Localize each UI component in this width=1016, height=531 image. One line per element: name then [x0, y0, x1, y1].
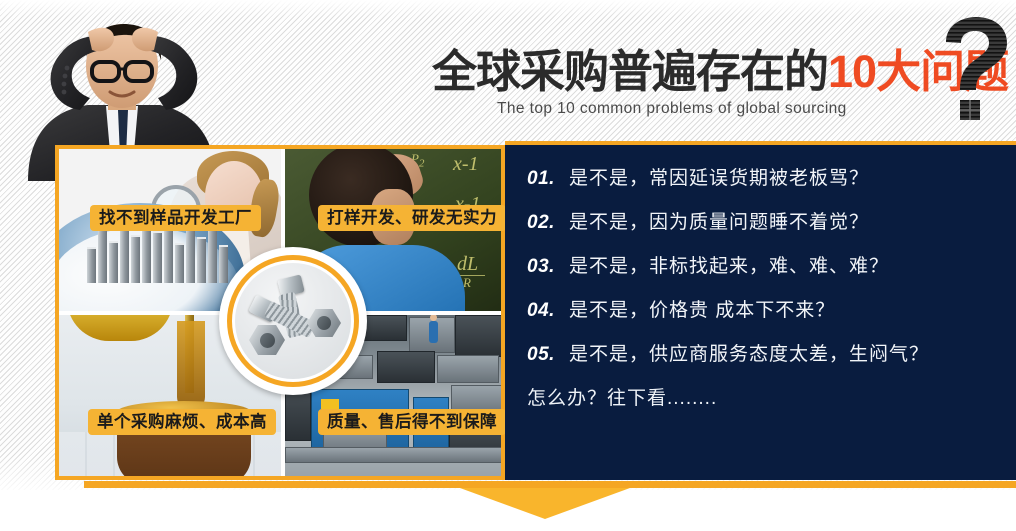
caption-no-quality-warranty: 质量、售后得不到保障	[318, 409, 506, 435]
problem-number: 02.	[527, 212, 569, 234]
problems-list: 01. 是不是，常因延误货期被老板骂？ 02. 是不是，因为质量问题睡不着觉？ …	[527, 163, 1006, 410]
problem-text: 是不是，供应商服务态度太差，生闷气？	[569, 339, 929, 366]
caption-no-sample-factory: 找不到样品开发工厂	[90, 205, 261, 231]
question-mark-icon	[938, 16, 1012, 124]
title-main-text: 全球采购普遍存在的	[432, 46, 828, 97]
page-title: 全球采购普遍存在的10大问题 The top 10 common problem…	[432, 44, 952, 104]
problem-text: 是不是，常因延误货期被老板骂？	[569, 163, 869, 190]
problem-text: 是不是，价格贵 成本下不来？	[569, 295, 835, 322]
problems-footer-text: 怎么办？往下看........	[527, 383, 1006, 410]
bolts-badge	[219, 247, 367, 395]
down-arrow-icon	[460, 488, 630, 519]
problem-text: 是不是，因为质量问题睡不着觉？	[569, 207, 869, 234]
problems-panel: 01. 是不是，常因延误货期被老板骂？ 02. 是不是，因为质量问题睡不着觉？ …	[505, 145, 1016, 480]
problem-item-02: 02. 是不是，因为质量问题睡不着觉？	[527, 207, 1006, 234]
problem-number: 01.	[527, 168, 569, 190]
badge-photo-bolts	[235, 263, 351, 379]
footer-rule	[84, 481, 1016, 488]
problem-item-03: 03. 是不是，非标找起来，难、难、难？	[527, 251, 1006, 278]
caption-no-rnd-strength: 打样开发、研发无实力	[318, 205, 506, 231]
poster-stage: 全球采购普遍存在的10大问题 The top 10 common problem…	[0, 0, 1016, 531]
caption-single-purchase-costly: 单个采购麻烦、成本高	[88, 409, 276, 435]
problem-item-01: 01. 是不是，常因延误货期被老板骂？	[527, 163, 1006, 190]
problem-number: 03.	[527, 256, 569, 278]
amber-liquid-stream	[177, 321, 205, 411]
problem-text: 是不是，非标找起来，难、难、难？	[569, 251, 889, 278]
problem-item-04: 04. 是不是，价格贵 成本下不来？	[527, 295, 1006, 322]
problem-number: 04.	[527, 300, 569, 322]
problem-number: 05.	[527, 344, 569, 366]
page-subtitle: The top 10 common problems of global sou…	[497, 100, 847, 118]
problem-item-05: 05. 是不是，供应商服务态度太差，生闷气？	[527, 339, 1006, 366]
